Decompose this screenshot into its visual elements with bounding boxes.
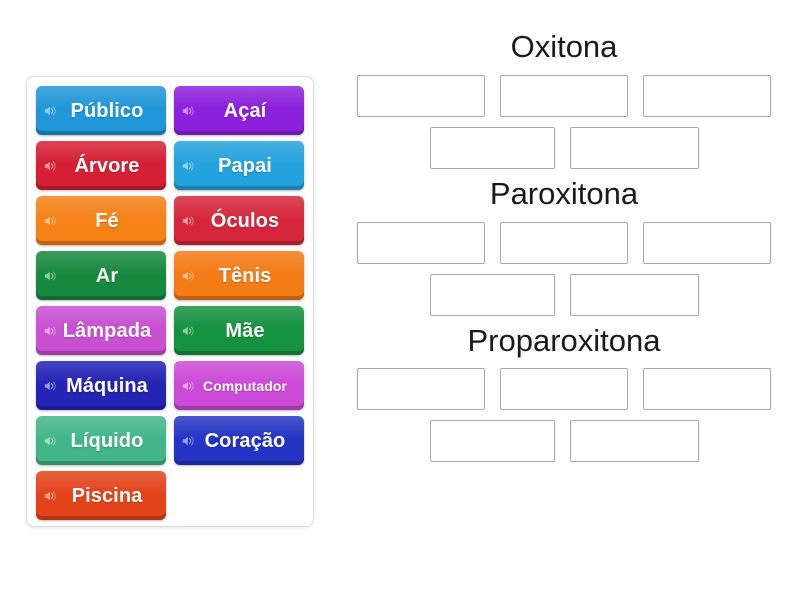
dropzone[interactable] bbox=[570, 127, 699, 169]
word-tile-slot: Óculos bbox=[170, 193, 308, 248]
dropzone-row bbox=[340, 274, 788, 316]
word-tile-slot: Árvore bbox=[32, 138, 170, 193]
word-tile-slot: Tênis bbox=[170, 248, 308, 303]
word-tile-slot: Piscina bbox=[32, 468, 170, 523]
word-tile-label: Árvore bbox=[60, 156, 141, 176]
dropzone[interactable] bbox=[570, 420, 699, 462]
word-tile-slot: Papai bbox=[170, 138, 308, 193]
word-tile-slot: Lâmpada bbox=[32, 303, 170, 358]
dropzone[interactable] bbox=[430, 127, 555, 169]
word-tile[interactable]: Piscina bbox=[36, 471, 166, 520]
dropzone-row bbox=[340, 420, 788, 462]
word-tiles-panel: PúblicoAçaíÁrvorePapaiFéÓculosArTênisLâm… bbox=[26, 76, 314, 527]
dropzone-row bbox=[340, 127, 788, 169]
category-group: Oxitona bbox=[340, 28, 788, 169]
word-tile-label: Tênis bbox=[205, 266, 274, 286]
speaker-icon[interactable] bbox=[182, 214, 196, 228]
dropzone[interactable] bbox=[643, 75, 771, 117]
word-tile-slot: Máquina bbox=[32, 358, 170, 413]
word-tile-label: Lâmpada bbox=[49, 321, 154, 341]
word-tile-label: Máquina bbox=[52, 376, 150, 396]
dropzone[interactable] bbox=[500, 75, 628, 117]
speaker-icon[interactable] bbox=[44, 269, 58, 283]
word-tile[interactable]: Líquido bbox=[36, 416, 166, 465]
word-tile[interactable]: Máquina bbox=[36, 361, 166, 410]
word-tile-label: Computador bbox=[189, 379, 289, 393]
word-tile[interactable]: Lâmpada bbox=[36, 306, 166, 355]
word-tile-slot: Líquido bbox=[32, 413, 170, 468]
word-tiles-grid: PúblicoAçaíÁrvorePapaiFéÓculosArTênisLâm… bbox=[32, 83, 308, 523]
dropzone-row bbox=[340, 222, 788, 264]
dropzone[interactable] bbox=[357, 368, 485, 410]
speaker-icon[interactable] bbox=[182, 104, 196, 118]
category-title: Paroxitona bbox=[340, 175, 788, 222]
word-tile-label: Fé bbox=[81, 211, 121, 231]
speaker-icon[interactable] bbox=[44, 489, 58, 503]
word-tile[interactable]: Computador bbox=[174, 361, 304, 410]
dropzone[interactable] bbox=[500, 222, 628, 264]
dropzone[interactable] bbox=[570, 274, 699, 316]
dropzone[interactable] bbox=[357, 222, 485, 264]
word-tile-label: Piscina bbox=[58, 486, 145, 506]
speaker-icon[interactable] bbox=[44, 214, 58, 228]
activity-canvas: PúblicoAçaíÁrvorePapaiFéÓculosArTênisLâm… bbox=[0, 0, 800, 600]
word-tile[interactable]: Fé bbox=[36, 196, 166, 245]
word-tile[interactable]: Tênis bbox=[174, 251, 304, 300]
word-tile-slot: Fé bbox=[32, 193, 170, 248]
speaker-icon[interactable] bbox=[182, 159, 196, 173]
category-title: Proparoxitona bbox=[340, 322, 788, 369]
word-tile-label: Coração bbox=[191, 431, 288, 451]
word-tile-slot: Ar bbox=[32, 248, 170, 303]
speaker-icon[interactable] bbox=[182, 269, 196, 283]
dropzone[interactable] bbox=[430, 274, 555, 316]
dropzone[interactable] bbox=[643, 222, 771, 264]
word-tile-slot: Coração bbox=[170, 413, 308, 468]
word-tile[interactable]: Ar bbox=[36, 251, 166, 300]
category-title: Oxitona bbox=[340, 28, 788, 75]
dropzone[interactable] bbox=[643, 368, 771, 410]
dropzone-row bbox=[340, 368, 788, 410]
categories-column: OxitonaParoxitonaProparoxitona bbox=[340, 28, 788, 580]
speaker-icon[interactable] bbox=[182, 324, 196, 338]
word-tile[interactable]: Árvore bbox=[36, 141, 166, 190]
word-tile-label: Papai bbox=[204, 156, 274, 176]
word-tile[interactable]: Público bbox=[36, 86, 166, 135]
speaker-icon[interactable] bbox=[44, 159, 58, 173]
word-tile-label: Ar bbox=[82, 266, 120, 286]
word-tile[interactable]: Mãe bbox=[174, 306, 304, 355]
word-tile-slot: Computador bbox=[170, 358, 308, 413]
word-tile[interactable]: Óculos bbox=[174, 196, 304, 245]
word-tile-label: Açaí bbox=[210, 101, 269, 121]
category-group: Paroxitona bbox=[340, 175, 788, 316]
word-tile-label: Líquido bbox=[57, 431, 146, 451]
dropzone[interactable] bbox=[430, 420, 555, 462]
dropzone[interactable] bbox=[357, 75, 485, 117]
word-tile-label: Mãe bbox=[211, 321, 266, 341]
word-tile-slot: Público bbox=[32, 83, 170, 138]
word-tile[interactable]: Papai bbox=[174, 141, 304, 190]
word-tile-label: Público bbox=[57, 101, 146, 121]
word-tile-slot: Mãe bbox=[170, 303, 308, 358]
word-tile[interactable]: Coração bbox=[174, 416, 304, 465]
dropzone-row bbox=[340, 75, 788, 117]
word-tile-label: Óculos bbox=[197, 211, 281, 231]
word-tile-slot: Açaí bbox=[170, 83, 308, 138]
word-tile[interactable]: Açaí bbox=[174, 86, 304, 135]
dropzone[interactable] bbox=[500, 368, 628, 410]
category-group: Proparoxitona bbox=[340, 322, 788, 463]
